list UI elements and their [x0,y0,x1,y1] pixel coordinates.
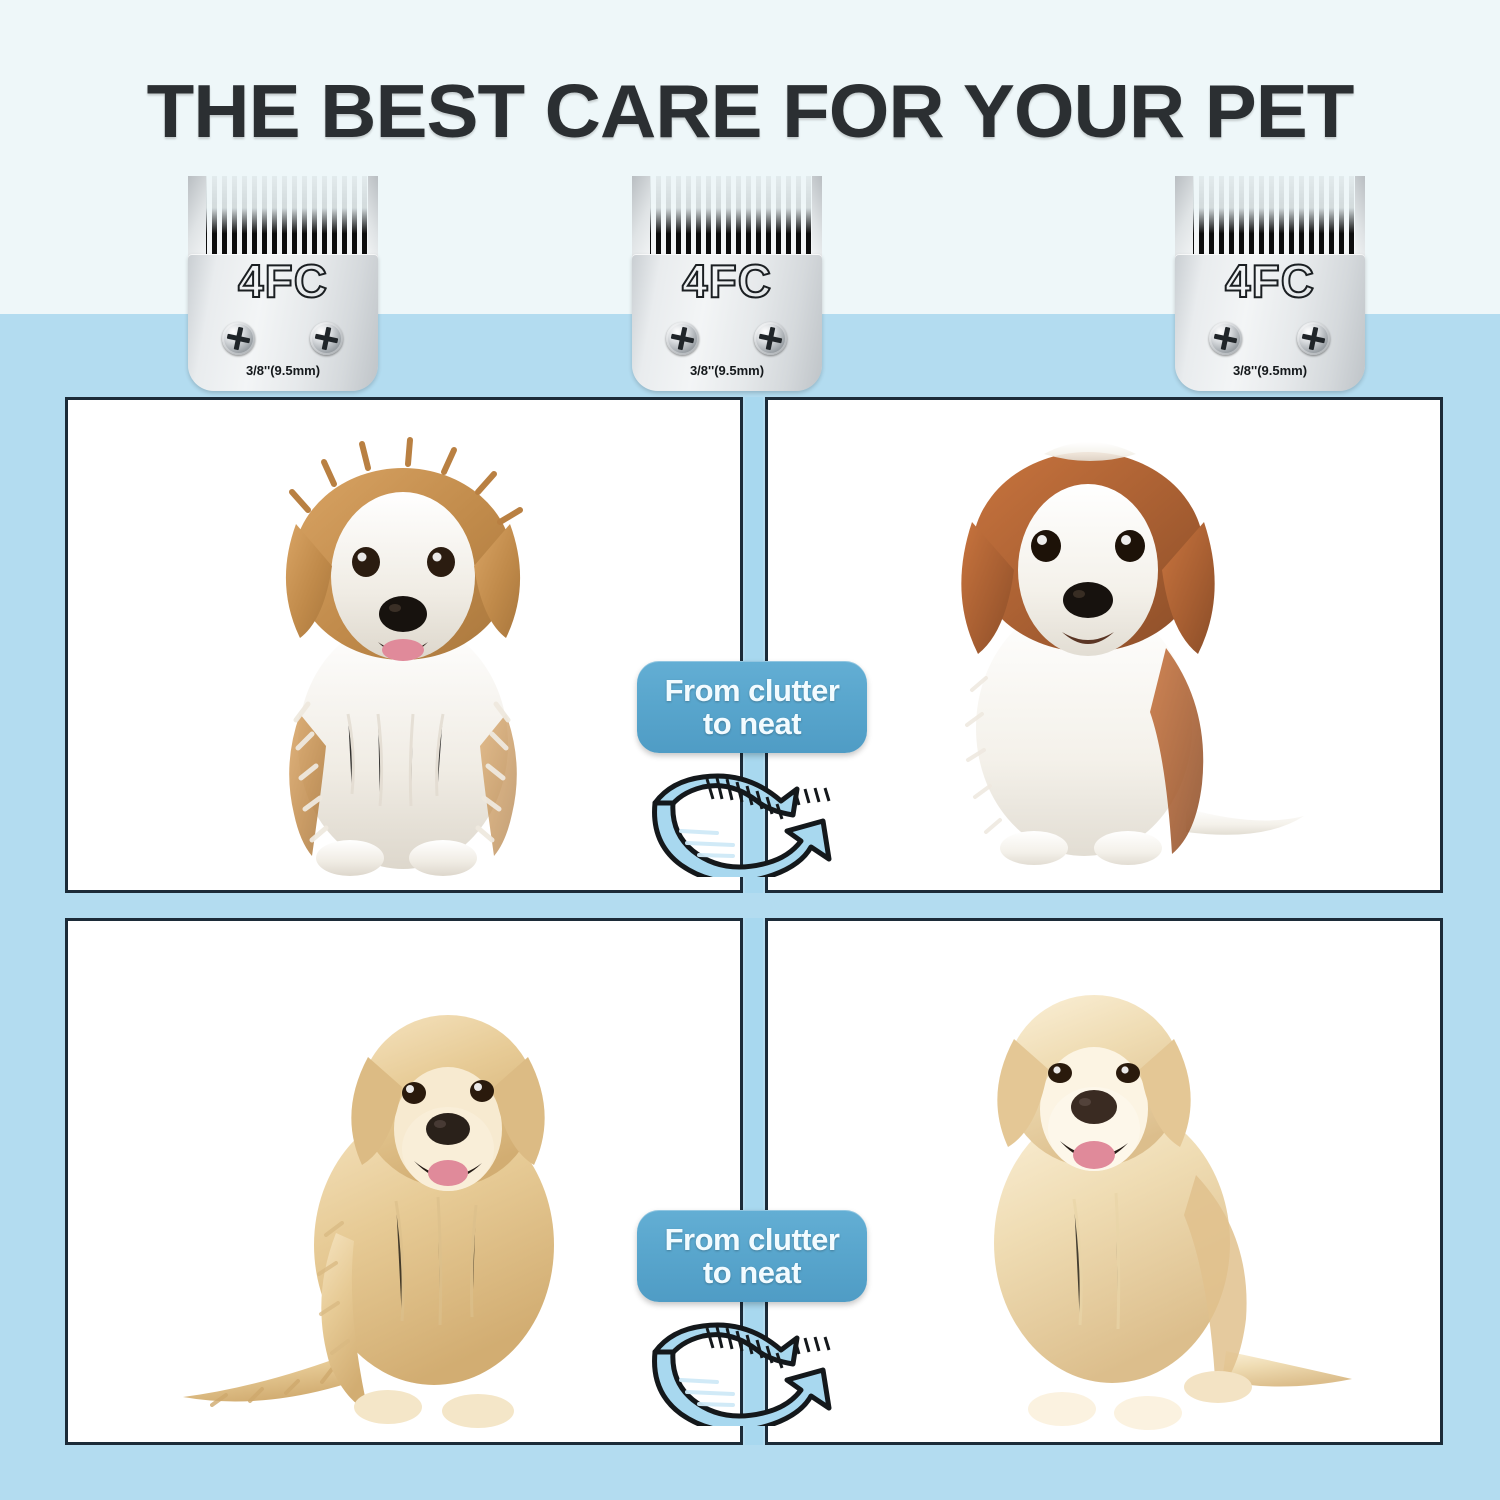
blade-comb-icon [636,176,818,256]
blade-model-label: 4FC [188,258,378,304]
blade-bevel-right-icon [368,176,378,258]
clipper-blade-center: 4FC 3/8''(9.5mm) [632,176,822,391]
blade-comb-icon [192,176,374,256]
dog-photo-ungroomed-golden-retriever [176,933,636,1433]
callout-badge-bottom: From clutter to neat [637,1210,867,1302]
blade-teeth-center [632,176,822,258]
clipper-blade-right: 4FC 3/8''(9.5mm) [1175,176,1365,391]
blade-bevel-right-icon [812,176,822,258]
blade-bevel-right-icon [1355,176,1365,258]
callout-line2: to neat [703,706,801,741]
blade-bevel-left-icon [632,176,650,258]
blade-screw-right-icon [754,322,787,355]
blade-screw-left-icon [1209,322,1242,355]
blade-model-label: 4FC [632,258,822,304]
callout-from-clutter-to-neat-bottom: From clutter to neat [637,1210,867,1426]
callout-text-bottom: From clutter to neat [665,1223,840,1290]
clipper-blade-left: 4FC 3/8''(9.5mm) [188,176,378,391]
callout-line1: From clutter [665,1222,840,1257]
blade-teeth-right [1175,176,1365,258]
blade-size-label: 3/8''(9.5mm) [632,363,822,378]
curved-arrow-icon-top [637,757,867,877]
blade-comb-icon [1179,176,1361,256]
blade-screw-right-icon [1297,322,1330,355]
callout-line1: From clutter [665,673,840,708]
callout-line2: to neat [703,1255,801,1290]
blade-size-label: 3/8''(9.5mm) [188,363,378,378]
dog-photo-ungroomed-terrier [238,414,568,884]
blade-model-label: 4FC [1175,258,1365,304]
promo-image-root: THE BEST CARE FOR YOUR PET 4FC 3/8''(9.5… [0,0,1500,1500]
blade-screw-left-icon [666,322,699,355]
curved-arrow-icon-bottom [637,1306,867,1426]
page-title: THE BEST CARE FOR YOUR PET [0,74,1500,149]
blade-teeth-left [188,176,378,258]
blade-size-label: 3/8''(9.5mm) [1175,363,1365,378]
blade-bevel-left-icon [1175,176,1193,258]
blade-bevel-left-icon [188,176,206,258]
callout-text-top: From clutter to neat [665,674,840,741]
callout-from-clutter-to-neat-top: From clutter to neat [637,661,867,877]
callout-badge-top: From clutter to neat [637,661,867,753]
blade-screw-right-icon [310,322,343,355]
blade-screw-left-icon [222,322,255,355]
dog-photo-groomed-golden-retriever [896,931,1356,1436]
dog-photo-groomed-small-dog [916,410,1316,880]
